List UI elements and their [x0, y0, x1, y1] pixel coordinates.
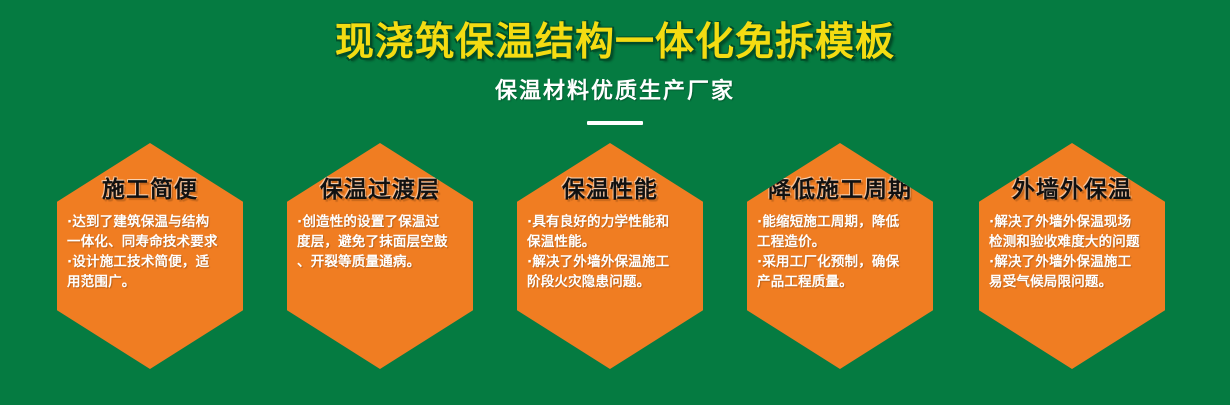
feature-body-line: ·能缩短施工周期，降低 [757, 212, 923, 232]
feature-body-line: 产品工程质量。 [757, 272, 923, 292]
feature-hexagon[interactable]: 施工简便 ·达到了建筑保温与结构 一体化、同寿命技术要求 ·设计施工技术简便，适… [57, 143, 243, 369]
promo-banner: 现浇筑保温结构一体化免拆模板 保温材料优质生产厂家 施工简便 ·达到了建筑保温与… [0, 0, 1230, 405]
page-subtitle: 保温材料优质生产厂家 [0, 66, 1230, 106]
feature-body-line: ·达到了建筑保温与结构 [67, 212, 233, 232]
feature-body-line: ·解决了外墙外保温施工 [989, 252, 1155, 272]
banner-header: 现浇筑保温结构一体化免拆模板 保温材料优质生产厂家 [0, 0, 1230, 125]
feature-body-line: 、开裂等质量通病。 [297, 252, 463, 272]
feature-hexagon[interactable]: 降低施工周期 ·能缩短施工周期，降低 工程造价。 ·采用工厂化预制，确保 产品工… [747, 143, 933, 369]
feature-hexagon[interactable]: 保温性能 ·具有良好的力学性能和 保温性能。 ·解决了外墙外保温施工 阶段火灾隐… [517, 143, 703, 369]
feature-body-line: 工程造价。 [757, 232, 923, 252]
feature-title: 保温性能 [523, 143, 697, 204]
feature-body-line: 用范围广。 [67, 272, 233, 292]
feature-body: ·解决了外墙外保温现场 检测和验收难度大的问题 ·解决了外墙外保温施工 易受气候… [985, 204, 1159, 292]
feature-body: ·具有良好的力学性能和 保温性能。 ·解决了外墙外保温施工 阶段火灾隐患问题。 [523, 204, 697, 292]
feature-body: ·达到了建筑保温与结构 一体化、同寿命技术要求 ·设计施工技术简便，适 用范围广… [63, 204, 237, 292]
title-divider [587, 121, 643, 125]
feature-body-line: 阶段火灾隐患问题。 [527, 272, 693, 292]
feature-body-line: 易受气候局限问题。 [989, 272, 1155, 292]
feature-body-line: 保温性能。 [527, 232, 693, 252]
feature-title: 外墙外保温 [985, 143, 1159, 204]
feature-body-line: 度层，避免了抹面层空鼓 [297, 232, 463, 252]
feature-body-line: ·解决了外墙外保温施工 [527, 252, 693, 272]
feature-body-line: 检测和验收难度大的问题 [989, 232, 1155, 252]
feature-body-line: 一体化、同寿命技术要求 [67, 232, 233, 252]
feature-body-line: ·采用工厂化预制，确保 [757, 252, 923, 272]
feature-body-line: ·解决了外墙外保温现场 [989, 212, 1155, 232]
feature-title: 施工简便 [63, 143, 237, 204]
feature-body-line: ·具有良好的力学性能和 [527, 212, 693, 232]
feature-hexagon-row: 施工简便 ·达到了建筑保温与结构 一体化、同寿命技术要求 ·设计施工技术简便，适… [0, 143, 1230, 369]
feature-hexagon[interactable]: 保温过渡层 ·创造性的设置了保温过 度层，避免了抹面层空鼓 、开裂等质量通病。 [287, 143, 473, 369]
feature-title: 降低施工周期 [753, 143, 927, 204]
feature-body: ·能缩短施工周期，降低 工程造价。 ·采用工厂化预制，确保 产品工程质量。 [753, 204, 927, 292]
feature-body-line: ·设计施工技术简便，适 [67, 252, 233, 272]
feature-body: ·创造性的设置了保温过 度层，避免了抹面层空鼓 、开裂等质量通病。 [293, 204, 467, 272]
feature-body-line: ·创造性的设置了保温过 [297, 212, 463, 232]
page-title: 现浇筑保温结构一体化免拆模板 [0, 0, 1230, 66]
feature-title: 保温过渡层 [293, 143, 467, 204]
feature-hexagon[interactable]: 外墙外保温 ·解决了外墙外保温现场 检测和验收难度大的问题 ·解决了外墙外保温施… [979, 143, 1165, 369]
